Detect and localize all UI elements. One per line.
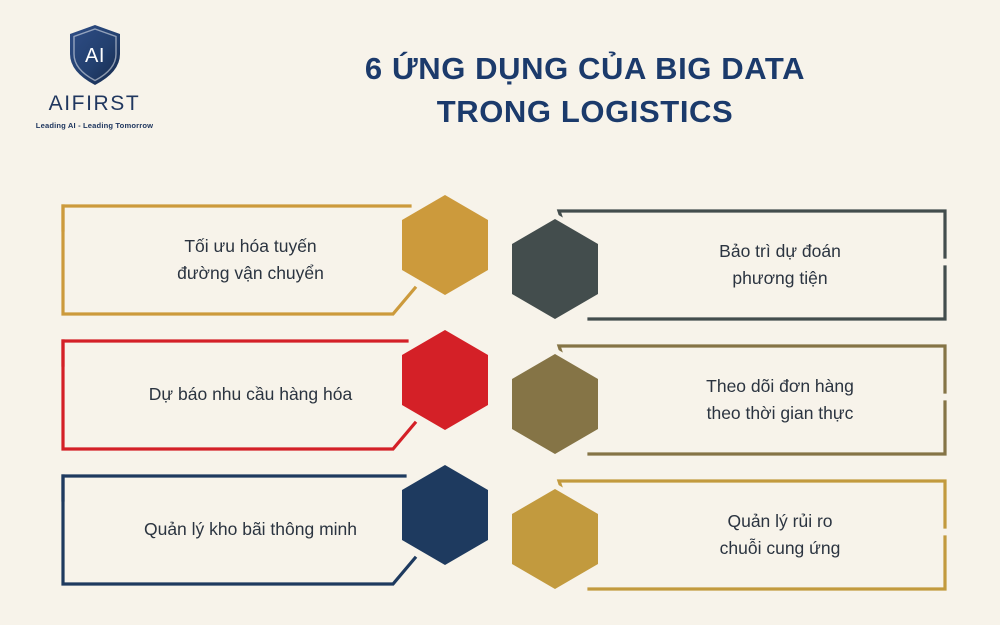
svg-text:AI: AI bbox=[85, 45, 105, 67]
diagram-item-4[interactable]: Bảo trì dự đoán phương tiện bbox=[505, 195, 965, 335]
diagram-item-3[interactable]: Quản lý kho bãi thông minh bbox=[55, 460, 515, 600]
hexagon-red bbox=[400, 328, 490, 432]
diagram-item-1[interactable]: Tối ưu hóa tuyến đường vận chuyển bbox=[55, 190, 515, 330]
diagram-item-5-frame bbox=[505, 330, 965, 470]
hexagon-gold bbox=[400, 193, 490, 297]
page-title: 6 ỨNG DỤNG CỦA BIG DATA TRONG LOGISTICS bbox=[190, 48, 980, 134]
hexagon-olive bbox=[510, 352, 600, 456]
diagram-item-1-frame bbox=[55, 190, 515, 330]
brand-wordmark: AIFIRST bbox=[22, 92, 167, 116]
brand-tagline: Leading AI - Leading Tomorrow bbox=[22, 121, 167, 130]
infographic-diagram: Tối ưu hóa tuyến đường vận chuyển Dự báo… bbox=[0, 165, 1000, 625]
ai-shield-icon: AI bbox=[68, 24, 122, 86]
page-title-line-1: 6 ỨNG DỤNG CỦA BIG DATA bbox=[190, 48, 980, 91]
diagram-item-5[interactable]: Theo dõi đơn hàng theo thời gian thực bbox=[505, 330, 965, 470]
diagram-item-2-frame bbox=[55, 325, 515, 465]
hexagon-navy bbox=[400, 463, 490, 567]
hexagon-slate bbox=[510, 217, 600, 321]
diagram-item-6-frame bbox=[505, 465, 965, 605]
diagram-item-2[interactable]: Dự báo nhu cầu hàng hóa bbox=[55, 325, 515, 465]
brand-logo: AI AIFIRST Leading AI - Leading Tomorrow bbox=[22, 24, 167, 130]
hexagon-darkgold bbox=[510, 487, 600, 591]
page-title-line-2: TRONG LOGISTICS bbox=[190, 91, 980, 134]
diagram-item-4-frame bbox=[505, 195, 965, 335]
diagram-item-3-frame bbox=[55, 460, 515, 600]
diagram-item-6[interactable]: Quản lý rủi ro chuỗi cung ứng bbox=[505, 465, 965, 605]
header: AI AIFIRST Leading AI - Leading Tomorrow… bbox=[0, 0, 1000, 165]
